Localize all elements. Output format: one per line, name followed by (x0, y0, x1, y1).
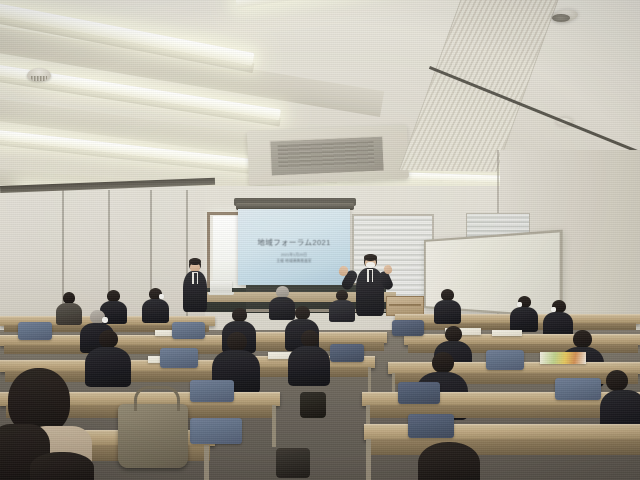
chair (392, 320, 424, 336)
standing-presenter-left (182, 258, 208, 312)
necktie (194, 273, 197, 284)
handbag (118, 404, 188, 468)
torso (434, 300, 461, 324)
laptop (210, 281, 232, 293)
hair (364, 254, 377, 261)
torso (142, 299, 169, 323)
face-mask (102, 317, 108, 323)
cardboard-box (386, 296, 424, 316)
attendee (434, 289, 461, 322)
attendee (56, 292, 82, 322)
desk-leg (204, 445, 209, 480)
ac-cassette-icon (247, 125, 409, 186)
torso (288, 346, 330, 386)
foreground-attendee-right (404, 442, 500, 480)
head (445, 326, 462, 342)
attendee (288, 330, 330, 382)
handbag-strap (134, 386, 180, 411)
downlight-icon (552, 14, 570, 22)
slide-subtitle-1: 2021年1月20日 (238, 253, 350, 258)
standing-presenter-right (352, 254, 388, 316)
brochure (540, 352, 586, 364)
slide-subtitle-2: 主催 地域連携推進室 (238, 259, 350, 264)
chair (160, 348, 198, 368)
floor-bag (276, 448, 310, 478)
head (606, 370, 628, 391)
floor-bag (300, 392, 326, 418)
head (432, 352, 454, 373)
attendee (329, 290, 355, 320)
head (232, 308, 247, 322)
chair (398, 382, 440, 404)
torso (56, 303, 82, 325)
chair (555, 378, 601, 400)
papers (492, 330, 522, 336)
head (30, 452, 94, 480)
chair (408, 414, 454, 438)
desk-leg (272, 405, 276, 447)
attendee (142, 288, 169, 321)
smoke-detector-icon (27, 68, 51, 81)
necktie (369, 270, 372, 282)
attendee (510, 296, 538, 330)
fluorescent-tube-icon (235, 0, 465, 8)
chair (190, 380, 234, 402)
torso (329, 300, 355, 322)
torso (510, 307, 538, 332)
head (301, 330, 319, 347)
head (99, 330, 118, 348)
chair (330, 344, 364, 362)
attendee (600, 370, 640, 428)
chair (172, 322, 205, 339)
chair (190, 418, 242, 444)
slide-title: 地域フォーラム2021 (238, 237, 350, 248)
seminar-room-photograph: 地域フォーラム2021 2021年1月20日 主催 地域連携推進室 (0, 0, 640, 480)
desk-leg (366, 439, 371, 480)
head (418, 442, 480, 480)
hair (189, 258, 201, 265)
chair (18, 322, 52, 340)
desk (364, 424, 640, 440)
head (573, 330, 592, 348)
foreground-attendee-lower (30, 452, 100, 480)
head (227, 332, 247, 351)
head (295, 306, 310, 320)
projection-screen: 地域フォーラム2021 2021年1月20日 主催 地域連携推進室 (238, 209, 350, 285)
chair (486, 350, 524, 370)
